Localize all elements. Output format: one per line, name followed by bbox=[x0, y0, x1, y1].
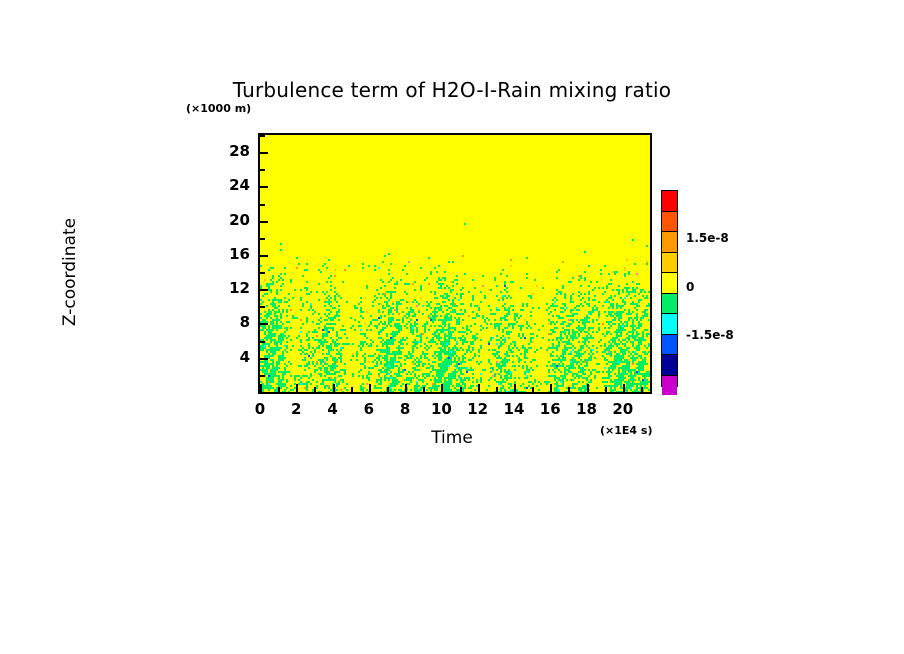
x-axis-tick-label: 12 bbox=[458, 400, 498, 418]
colorbar bbox=[661, 190, 678, 387]
x-axis-tick-label: 8 bbox=[385, 400, 425, 418]
heatmap-image bbox=[260, 135, 650, 392]
x-axis-tick-label: 18 bbox=[567, 400, 607, 418]
figure-canvas: Turbulence term of H2O-I-Rain mixing rat… bbox=[0, 0, 904, 654]
colorbar-segment bbox=[662, 294, 677, 315]
colorbar-segment bbox=[662, 273, 677, 294]
y-axis-label: Z-coordinate bbox=[60, 142, 80, 402]
colorbar-segment bbox=[662, 355, 677, 376]
colorbar-segment bbox=[662, 314, 677, 335]
chart-title: Turbulence term of H2O-I-Rain mixing rat… bbox=[0, 78, 904, 102]
x-axis-tick-label: 2 bbox=[276, 400, 316, 418]
y-axis-tick-label: 8 bbox=[210, 313, 250, 331]
y-axis-tick-label: 4 bbox=[210, 348, 250, 366]
y-axis-tick-label: 24 bbox=[210, 176, 250, 194]
y-axis-units-label: (×1000 m) bbox=[186, 102, 251, 115]
y-axis-tick-label: 12 bbox=[210, 279, 250, 297]
x-axis-tick-label: 16 bbox=[530, 400, 570, 418]
colorbar-segment bbox=[662, 191, 677, 212]
y-axis-tick-label: 28 bbox=[210, 142, 250, 160]
x-axis-tick-label: 20 bbox=[603, 400, 643, 418]
x-axis-tick-label: 4 bbox=[313, 400, 353, 418]
colorbar-segment bbox=[662, 232, 677, 253]
colorbar-tick-label: 0 bbox=[686, 280, 694, 294]
colorbar-tick-label: 1.5e-8 bbox=[686, 231, 729, 245]
colorbar-segment bbox=[662, 376, 677, 396]
y-axis-tick-label: 16 bbox=[210, 245, 250, 263]
y-axis-tick-label: 20 bbox=[210, 211, 250, 229]
colorbar-segment bbox=[662, 212, 677, 233]
x-axis-units-label: (×1E4 s) bbox=[600, 424, 652, 437]
x-axis-tick-label: 10 bbox=[421, 400, 461, 418]
colorbar-segment bbox=[662, 335, 677, 356]
x-axis-tick-label: 6 bbox=[349, 400, 389, 418]
colorbar-segment bbox=[662, 253, 677, 274]
x-axis-label: Time bbox=[0, 428, 904, 448]
x-axis-tick-label: 0 bbox=[240, 400, 280, 418]
colorbar-tick-label: -1.5e-8 bbox=[686, 328, 734, 342]
plot-area bbox=[258, 133, 652, 394]
x-axis-tick-label: 14 bbox=[494, 400, 534, 418]
